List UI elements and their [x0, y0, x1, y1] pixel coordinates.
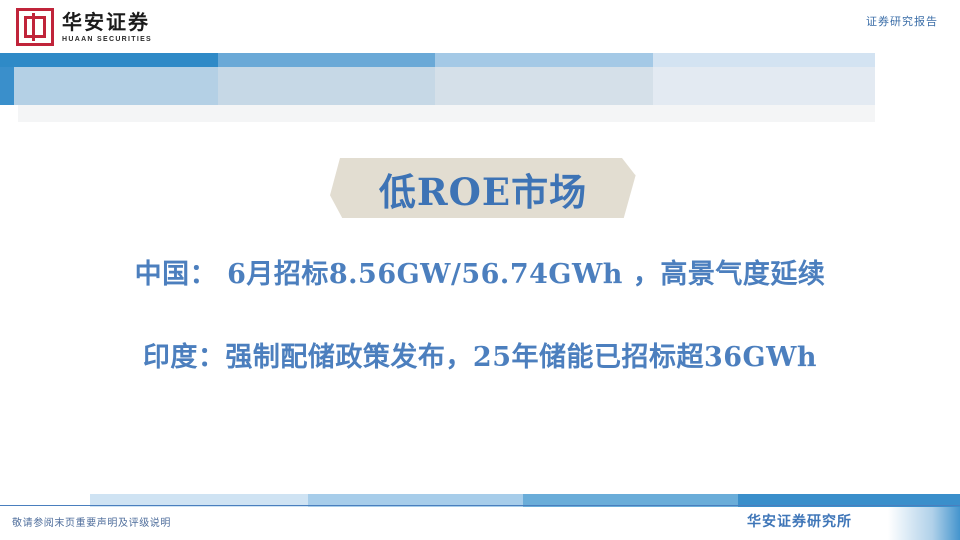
- brand-logo-text: 华安证券 HUAAN SECURITIES: [62, 12, 152, 43]
- header-banner-top-segment-4: [653, 53, 875, 67]
- header-banner-body-segment-4: [653, 67, 875, 105]
- footer-disclaimer: 敬请参阅末页重要声明及评级说明: [12, 514, 171, 529]
- huaan-seal-logo-icon: [16, 8, 54, 46]
- header-decorative-banner: [0, 53, 960, 123]
- brand-logo: 华安证券 HUAAN SECURITIES: [16, 8, 152, 46]
- footer-corner-gradient: [888, 507, 960, 540]
- footer-institute: 华安证券研究所: [747, 511, 852, 531]
- header-banner-top-segment-1: [0, 53, 218, 67]
- body-content: 中国： 6月招标8.56GW/56.74GWh ，高景气度延续 印度：强制配储政…: [0, 252, 960, 374]
- report-type-label: 证券研究报告: [866, 13, 938, 29]
- header-banner-body-segment-2: [218, 67, 435, 105]
- header-banner-top-segment-3: [435, 53, 653, 67]
- body-line-india: 印度：强制配储政策发布，25年储能已招标超36GWh: [0, 335, 960, 374]
- header-banner-top-segment-2: [218, 53, 435, 67]
- header-banner-body-segment-3: [435, 67, 653, 105]
- header-banner-underline: [18, 105, 875, 122]
- body-line-china: 中国： 6月招标8.56GW/56.74GWh ，高景气度延续: [0, 252, 960, 291]
- header-banner-body-segment-1: [14, 67, 218, 105]
- slide-canvas: 华安证券 HUAAN SECURITIES 证券研究报告 低ROE市场 中国： …: [0, 0, 960, 540]
- brand-name-en: HUAAN SECURITIES: [62, 36, 152, 43]
- brand-name-cn: 华安证券: [62, 12, 152, 32]
- footer-divider: [0, 505, 960, 506]
- section-title: 低ROE市场: [330, 160, 636, 218]
